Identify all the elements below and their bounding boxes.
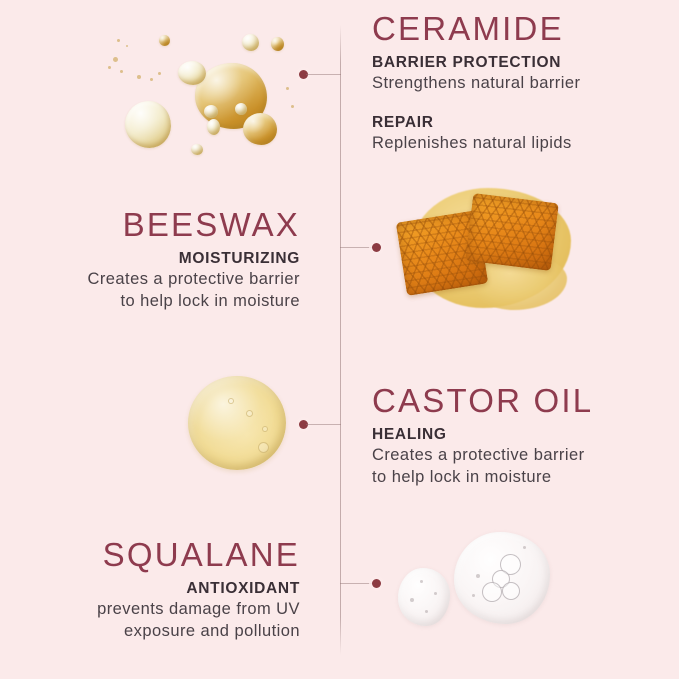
benefit-description: prevents damage from UV exposure and pol… [97, 599, 300, 643]
section-ceramide: CERAMIDE BARRIER PROTECTION Strengthens … [372, 12, 580, 155]
section-castor-oil: CASTOR OIL HEALING Creates a protective … [372, 384, 593, 489]
oil-drop-image [188, 376, 288, 472]
benefit-label: HEALING [372, 425, 593, 444]
ingredient-title-ceramide: CERAMIDE [372, 12, 580, 47]
benefit-description: Replenishes natural lipids [372, 133, 580, 155]
connector-line-castor-oil [306, 424, 341, 425]
section-squalane: SQUALANE ANTIOXIDANT prevents damage fro… [97, 538, 300, 643]
connector-dot-beeswax [372, 243, 381, 252]
benefit-antioxidant: ANTIOXIDANT prevents damage from UV expo… [97, 579, 300, 643]
benefit-description: Creates a protective barrier to help loc… [87, 269, 300, 313]
honeycomb-image [385, 180, 605, 315]
ingredient-title-squalane: SQUALANE [97, 538, 300, 573]
connector-dot-squalane [372, 579, 381, 588]
benefit-description: Strengthens natural barrier [372, 73, 580, 95]
benefit-label: MOISTURIZING [87, 249, 300, 268]
benefit-label: REPAIR [372, 113, 580, 132]
connector-line-ceramide [306, 74, 341, 75]
ingredient-title-beeswax: BEESWAX [87, 208, 300, 243]
benefit-barrier-protection: BARRIER PROTECTION Strengthens natural b… [372, 53, 580, 95]
benefit-healing: HEALING Creates a protective barrier to … [372, 425, 593, 489]
benefit-label: BARRIER PROTECTION [372, 53, 580, 72]
ingredient-infographic: CERAMIDE BARRIER PROTECTION Strengthens … [0, 0, 679, 679]
benefit-repair: REPAIR Replenishes natural lipids [372, 113, 580, 155]
benefit-description: Creates a protective barrier to help loc… [372, 445, 593, 489]
section-beeswax: BEESWAX MOISTURIZING Creates a protectiv… [87, 208, 300, 313]
benefit-label: ANTIOXIDANT [97, 579, 300, 598]
center-divider-line [340, 25, 341, 655]
benefit-moisturizing: MOISTURIZING Creates a protective barrie… [87, 249, 300, 313]
oil-droplets-image [95, 25, 300, 155]
ingredient-title-castor-oil: CASTOR OIL [372, 384, 593, 419]
gel-blobs-image [392, 522, 582, 662]
